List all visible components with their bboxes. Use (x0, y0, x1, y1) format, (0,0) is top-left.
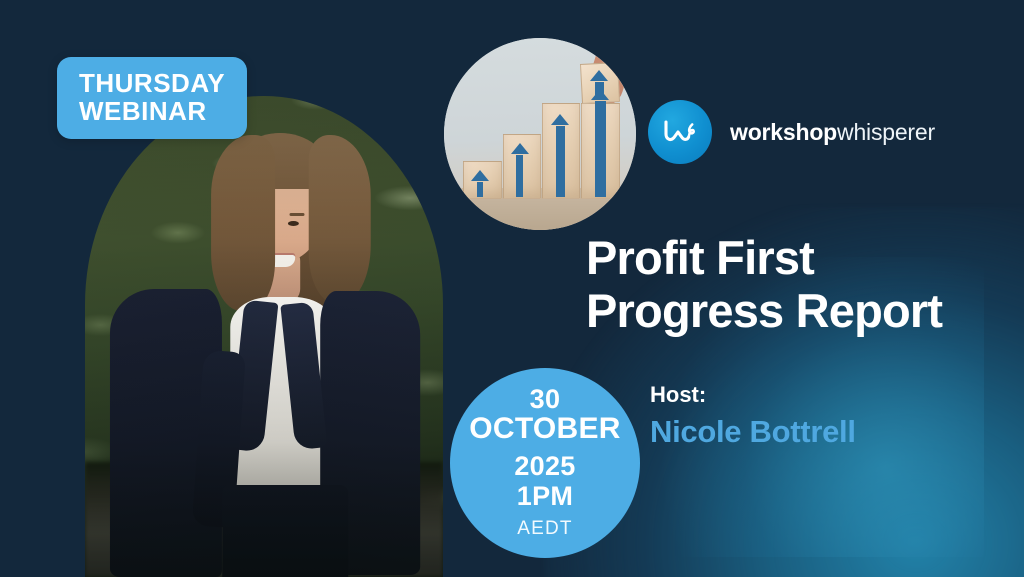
wordmark-whisperer: whisperer (837, 119, 935, 146)
event-time: 1PM (517, 482, 573, 510)
badge-line-webinar: WEBINAR (79, 97, 225, 125)
up-arrow-icon-4 (595, 101, 606, 197)
growth-blocks-photo (444, 38, 636, 230)
event-year: 2025 (514, 450, 575, 482)
host-label: Host: (650, 382, 856, 408)
thursday-webinar-badge: THURSDAY WEBINAR (57, 57, 247, 139)
title-line-2: Progress Report (586, 285, 1006, 338)
host-portrait-photo (85, 96, 443, 577)
up-arrow-icon-1 (477, 182, 483, 197)
portrait-scene (85, 96, 443, 577)
brand-wordmark: workshop whisperer (730, 119, 935, 146)
brand-logo: workshop whisperer (648, 100, 935, 164)
host-name: Nicole Bottrell (650, 413, 856, 452)
up-arrow-icon-3 (556, 126, 565, 197)
up-arrow-icon-2 (516, 155, 523, 197)
up-arrow-icon-5 (595, 82, 604, 99)
event-timezone: AEDT (517, 518, 572, 541)
title-line-1: Profit First (586, 232, 1006, 285)
badge-line-thursday: THURSDAY (79, 69, 225, 97)
event-month: OCTOBER (469, 413, 621, 445)
portrait-vignette (85, 96, 443, 577)
event-date-badge: 30 OCTOBER 2025 1PM AEDT (450, 368, 640, 558)
wordmark-workshop: workshop (730, 119, 837, 146)
workshop-whisperer-w-mark-icon (648, 100, 712, 164)
webinar-promo-canvas: THURSDAY WEBINAR workshop whisperer Prof… (0, 0, 1024, 577)
page-title: Profit First Progress Report (586, 232, 1006, 337)
host-block: Host: Nicole Bottrell (650, 382, 856, 452)
event-day: 30 (530, 386, 561, 413)
